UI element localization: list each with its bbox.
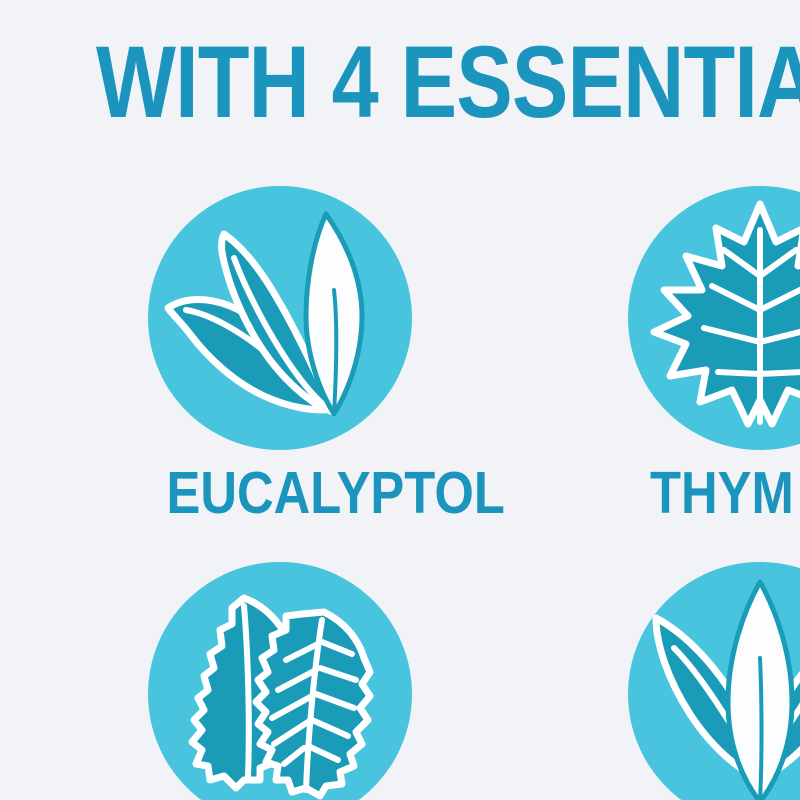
ingredient-label-thymol: THYM — [650, 464, 800, 523]
mint-leaves-icon — [148, 562, 412, 800]
leaf-shape-thyme — [654, 204, 800, 424]
wintergreen-leaves-icon — [628, 562, 800, 800]
ingredient-card-thymol[interactable]: THYM — [628, 186, 800, 523]
ingredient-card-menthol[interactable] — [148, 562, 412, 800]
leaf-vein-white — [334, 290, 336, 414]
page-title: WITH 4 ESSENTIAL O — [96, 30, 800, 134]
infographic-canvas: WITH 4 ESSENTIAL O EUCALYPTOL — [0, 0, 800, 800]
ingredient-label-eucalyptol: EUCALYPTOL — [166, 464, 393, 523]
leaf-vein-center-white — [760, 658, 762, 800]
ingredient-card-wintergreen[interactable] — [628, 562, 800, 800]
eucalyptus-leaves-icon — [148, 186, 412, 450]
thyme-leaf-icon — [628, 186, 800, 450]
ingredients-grid: EUCALYPTOL THYM — [0, 160, 800, 800]
ingredient-card-eucalyptol[interactable]: EUCALYPTOL — [148, 186, 412, 523]
